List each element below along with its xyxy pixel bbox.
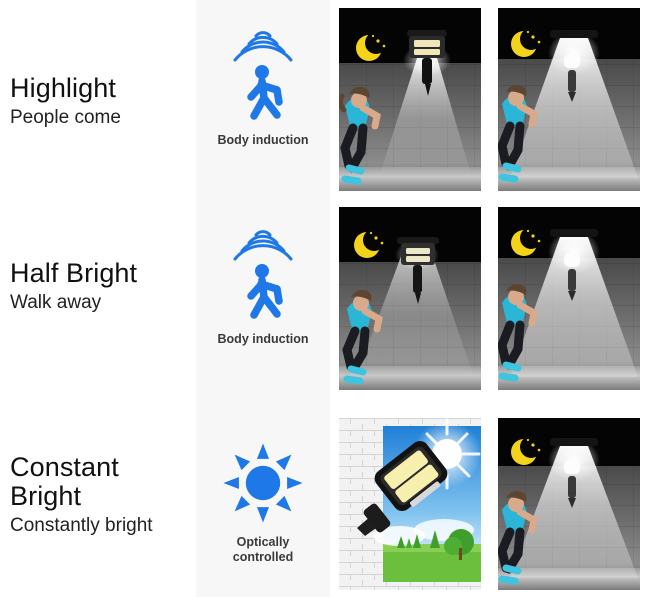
moon-icon — [511, 436, 542, 465]
night-lamp-narrow-beam-photo — [339, 8, 481, 191]
body-induction-icon — [220, 217, 306, 323]
mode-text-column: Constant Bright Constantly bright — [0, 398, 196, 597]
icon-block: Body induction — [196, 217, 330, 347]
mode-icon-column: Body induction — [196, 0, 330, 199]
photo-a-overlay — [339, 8, 481, 191]
moon-icon — [354, 229, 385, 258]
runner-figure — [340, 87, 377, 181]
comparison-sheet: Highlight People come — [0, 0, 660, 597]
icon-block: Optically controlled — [196, 440, 330, 565]
night-lamp-wide-beam-photo — [498, 207, 640, 390]
photo-b-overlay — [498, 8, 640, 191]
mode-text-column: Half Bright Walk away — [0, 199, 196, 398]
photo-a-overlay — [339, 207, 481, 390]
daytime-wall-mounted-lamp-photo — [339, 418, 481, 590]
mode-icon-column: Optically controlled — [196, 398, 330, 597]
photo-day-overlay — [339, 418, 481, 590]
mode-row-highlight: Highlight People come — [0, 0, 660, 199]
icon-caption: Body induction — [196, 133, 330, 148]
mode-icon-column: Body induction — [196, 199, 330, 398]
moon-icon — [511, 227, 542, 256]
mode-subtitle: People come — [10, 108, 121, 129]
body-induction-icon — [220, 18, 306, 124]
mode-title: Constant Bright — [10, 453, 119, 510]
mode-text-column: Highlight People come — [0, 0, 196, 199]
icon-block: Body induction — [196, 18, 330, 148]
night-lamp-wide-beam-photo — [498, 8, 640, 191]
moon-icon — [356, 32, 387, 61]
photo-b-overlay — [498, 418, 640, 590]
sun-icon — [220, 440, 306, 526]
mode-row-constant-bright: Constant Bright Constantly bright — [0, 398, 660, 597]
mode-title: Highlight — [10, 74, 116, 103]
night-lamp-dim-beam-photo — [339, 207, 481, 390]
mode-subtitle: Constantly bright — [10, 516, 153, 537]
icon-caption: Body induction — [196, 332, 330, 347]
photo-b-overlay — [498, 207, 640, 390]
mode-title: Half Bright — [10, 259, 137, 288]
mode-subtitle: Walk away — [10, 293, 101, 314]
icon-caption: Optically controlled — [196, 535, 330, 565]
mode-row-half-bright: Half Bright Walk away — [0, 199, 660, 398]
moon-icon — [511, 28, 542, 57]
night-lamp-wide-beam-photo — [498, 418, 640, 590]
